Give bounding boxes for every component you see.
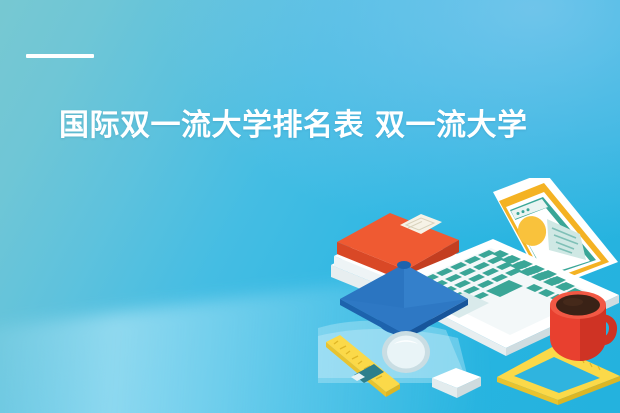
banner-card: 国际双一流大学排名表 双一流大学 xyxy=(0,0,620,413)
education-illustration xyxy=(318,178,620,413)
page-title: 国际双一流大学排名表 双一流大学 xyxy=(59,105,599,147)
set-square-shape xyxy=(497,346,620,405)
accent-bar xyxy=(26,54,94,58)
